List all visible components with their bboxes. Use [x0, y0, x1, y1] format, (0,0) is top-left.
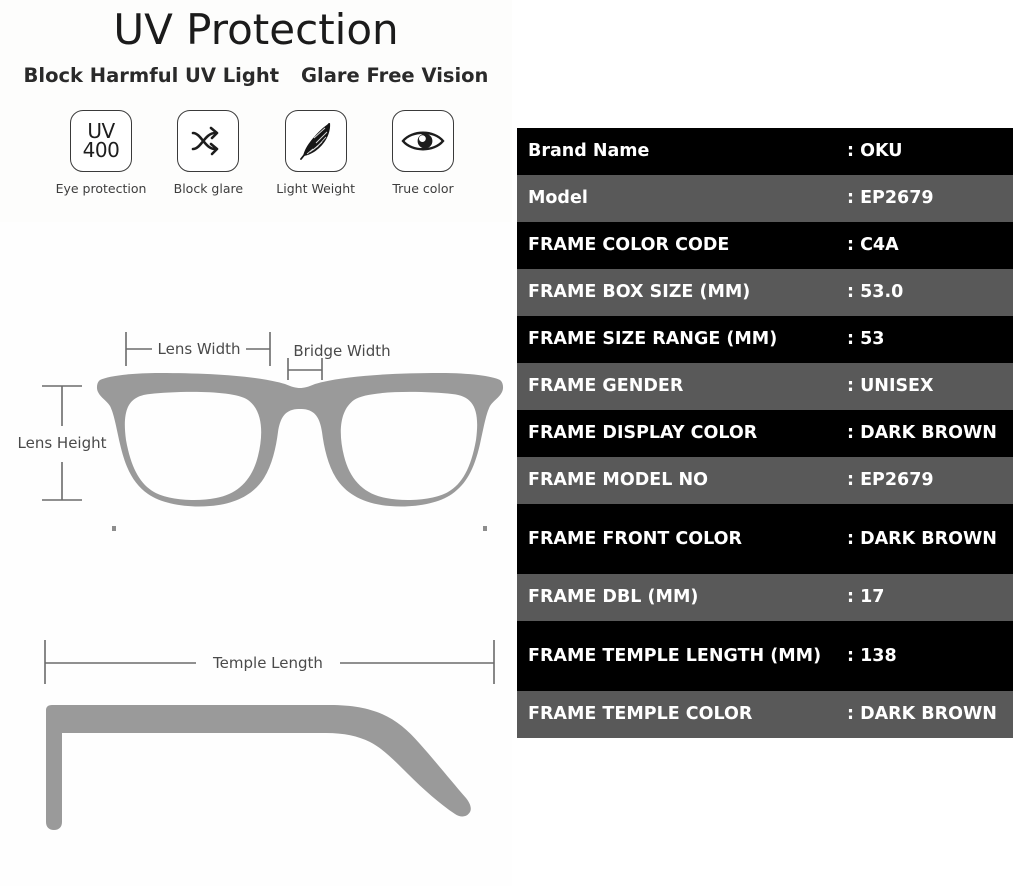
- spec-key: FRAME COLOR CODE: [517, 235, 847, 255]
- spec-value: : UNISEX: [847, 376, 1013, 396]
- uv400-line2: 400: [83, 141, 120, 160]
- uv-protection-header: UV Protection Block Harmful UV Light Gla…: [0, 0, 512, 222]
- spec-row: FRAME SIZE RANGE (MM): 53: [517, 316, 1013, 363]
- spec-value: : 17: [847, 587, 1013, 607]
- feature-eye-protection: UV 400 Eye protection: [52, 110, 150, 196]
- spec-key: FRAME TEMPLE LENGTH (MM): [517, 646, 847, 666]
- spec-key: FRAME DISPLAY COLOR: [517, 423, 847, 443]
- spec-value: : OKU: [847, 141, 1013, 161]
- spec-row: FRAME COLOR CODE: C4A: [517, 222, 1013, 269]
- spec-value: : C4A: [847, 235, 1013, 255]
- lens-width-label: Lens Width: [158, 340, 241, 358]
- feature-block-glare: Block glare: [159, 110, 257, 196]
- spec-key: FRAME MODEL NO: [517, 470, 847, 490]
- feature-caption: Light Weight: [276, 181, 355, 196]
- spec-row: Model: EP2679: [517, 175, 1013, 222]
- uv400-badge-text: UV 400: [83, 122, 120, 160]
- block-glare-icon: [188, 124, 228, 158]
- feature-true-color: True color: [374, 110, 472, 196]
- frame-front-shape: [97, 373, 503, 507]
- spec-row: FRAME DISPLAY COLOR: DARK BROWN: [517, 410, 1013, 457]
- spec-key: FRAME GENDER: [517, 376, 847, 396]
- subtitle-block-uv: Block Harmful UV Light: [24, 64, 280, 87]
- spec-row: Brand Name: OKU: [517, 128, 1013, 175]
- spec-value: : DARK BROWN: [847, 529, 1013, 549]
- spec-row: FRAME MODEL NO: EP2679: [517, 457, 1013, 504]
- spec-key: FRAME FRONT COLOR: [517, 529, 847, 549]
- header-subtitles: Block Harmful UV Light Glare Free Vision: [0, 64, 512, 87]
- spec-value: : EP2679: [847, 470, 1013, 490]
- feature-caption: True color: [392, 181, 453, 196]
- hinge-dot-left: [112, 526, 116, 531]
- eye-icon: [400, 127, 446, 155]
- spec-row: FRAME BOX SIZE (MM): 53.0: [517, 269, 1013, 316]
- lens-height-label: Lens Height: [18, 434, 107, 452]
- feature-icon-row: UV 400 Eye protection: [52, 110, 472, 196]
- spec-key: FRAME DBL (MM): [517, 587, 847, 607]
- specification-table: Brand Name: OKUModel: EP2679FRAME COLOR …: [517, 128, 1013, 738]
- uv400-badge-icon: UV 400: [70, 110, 132, 172]
- spec-value: : DARK BROWN: [847, 704, 1013, 724]
- spec-key: Brand Name: [517, 141, 847, 161]
- spec-value: : 53: [847, 329, 1013, 349]
- glasses-temple-diagram: Temple Length: [0, 622, 512, 852]
- spec-key: FRAME BOX SIZE (MM): [517, 282, 847, 302]
- spec-row: FRAME GENDER: UNISEX: [517, 363, 1013, 410]
- bridge-width-label: Bridge Width: [293, 342, 390, 360]
- spec-row: FRAME FRONT COLOR: DARK BROWN: [517, 504, 1013, 574]
- feather-icon-box: [285, 110, 347, 172]
- spec-value: : DARK BROWN: [847, 423, 1013, 443]
- spec-key: FRAME SIZE RANGE (MM): [517, 329, 847, 349]
- product-info-panel: UV Protection Block Harmful UV Light Gla…: [0, 0, 512, 886]
- spec-key: FRAME TEMPLE COLOR: [517, 704, 847, 724]
- spec-row: FRAME TEMPLE COLOR: DARK BROWN: [517, 691, 1013, 738]
- bridge-width-dimension: [288, 358, 322, 380]
- subtitle-glare-free: Glare Free Vision: [301, 64, 488, 87]
- feature-caption: Block glare: [174, 181, 243, 196]
- spec-value: : EP2679: [847, 188, 1013, 208]
- feather-icon: [295, 119, 337, 163]
- spec-key: Model: [517, 188, 847, 208]
- spec-value: : 138: [847, 646, 1013, 666]
- feature-caption: Eye protection: [56, 181, 147, 196]
- spec-row: FRAME DBL (MM): 17: [517, 574, 1013, 621]
- temple-arm-shape: [46, 705, 471, 830]
- page-title: UV Protection: [0, 4, 512, 56]
- spec-row: FRAME TEMPLE LENGTH (MM): 138: [517, 621, 1013, 691]
- glasses-front-diagram: Lens Width Bridge Width Lens Height: [0, 318, 512, 558]
- feature-light-weight: Light Weight: [267, 110, 365, 196]
- temple-length-label: Temple Length: [212, 654, 323, 672]
- block-glare-icon-box: [177, 110, 239, 172]
- spec-value: : 53.0: [847, 282, 1013, 302]
- eye-icon-box: [392, 110, 454, 172]
- hinge-dot-right: [483, 526, 487, 531]
